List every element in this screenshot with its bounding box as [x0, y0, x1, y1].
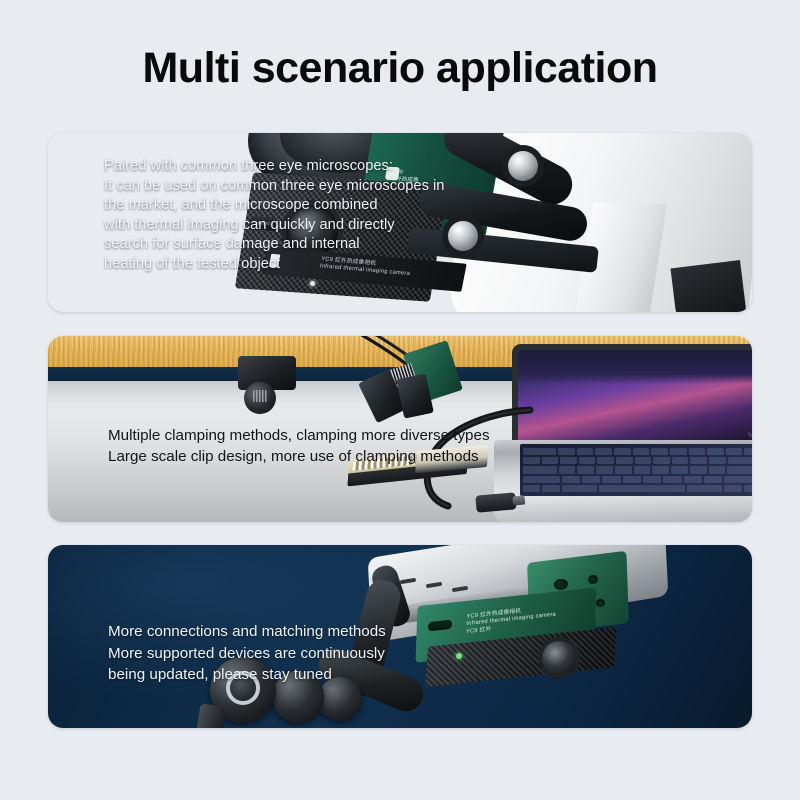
panel-microscope-text: Paired with common three eye microscopes…: [104, 157, 444, 275]
panel-connections-line-1: More connections and matching methods: [108, 621, 386, 643]
microscope-foot-icon: [670, 260, 747, 312]
status-led-icon: [456, 653, 462, 659]
camera-lens-icon: [542, 641, 576, 675]
usb-c-plug-icon: [475, 492, 516, 512]
panel-microscope-line-3: the market, and the microscope combined: [104, 196, 444, 216]
thumb-screw-icon: [508, 151, 538, 181]
panel-microscope-line-1: Paired with common three eye microscopes…: [104, 157, 444, 177]
panel-connections[interactable]: YC9 红外热成像相机 Infrared thermal imaging cam…: [48, 545, 752, 728]
page-title: Multi scenario application: [0, 44, 800, 93]
panel-clamping-line-2: Large scale clip design, more use of cla…: [108, 446, 490, 467]
panel-connections-text: More connections and matching methods Mo…: [108, 621, 386, 686]
laptop-screen: [512, 344, 752, 440]
panel-microscope-line-2: It can be used on common three eye micro…: [104, 177, 444, 197]
panel-microscope-line-5: search for surface damage and internal: [104, 235, 444, 255]
clamp-knob-icon: [244, 382, 276, 414]
panel-microscope-line-4: with thermal imaging can quickly and dir…: [104, 216, 444, 236]
indicator-led-icon: [310, 281, 315, 286]
panel-clamping-line-1: Multiple clamping methods, clamping more…: [108, 425, 490, 446]
panel-microscope[interactable]: YC9 红外热成像 ON/OFF YC9 红外热成像相机 Infrared th…: [48, 133, 752, 312]
laptop-keyboard: [520, 444, 752, 496]
panel-connections-line-3: being updated, please stay tuned: [108, 664, 386, 686]
panel-clamping-text: Multiple clamping methods, clamping more…: [108, 425, 490, 467]
connector-group: [348, 344, 458, 424]
keyboard-row: [523, 485, 752, 492]
keyboard-row: [523, 457, 752, 464]
mount-post-icon: [196, 703, 226, 728]
panel-connections-line-2: More supported devices are continuously: [108, 643, 386, 665]
laptop-icon: M: [494, 344, 752, 522]
keyboard-row: [523, 466, 752, 473]
keyboard-row: [523, 448, 752, 455]
laptop-brand-mark: M: [748, 432, 752, 439]
thumb-screw-icon: [448, 221, 478, 251]
panel-clamping[interactable]: M Multiple clamping methods, clamping mo…: [48, 336, 752, 522]
keyboard-row: [523, 476, 752, 483]
panel-microscope-line-6: heating of the tested object: [104, 255, 444, 275]
